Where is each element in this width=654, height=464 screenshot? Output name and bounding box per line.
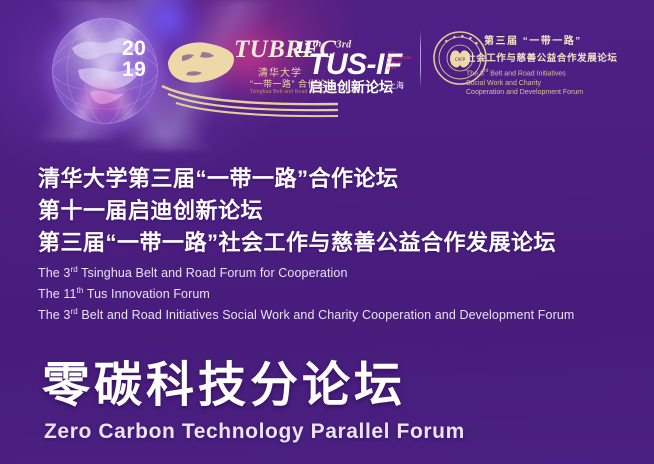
forum-title-chinese: 零碳科技分论坛 — [42, 360, 406, 412]
tusif-side-text: TUS INNOVATION FORUM 2019 — [387, 50, 409, 70]
svg-text:●: ● — [453, 35, 456, 39]
conference-poster-banner: 20 19 TUBRFC3rd 清华大学 “一带一路” 合作论坛 Tsinghu… — [0, 0, 654, 464]
year-label: 20 19 — [122, 38, 146, 80]
svg-text:●: ● — [461, 34, 464, 38]
main-titles-chinese: 清华大学第三届“一带一路”合作论坛 第十一届启迪创新论坛 第三届“一带一路”社会… — [38, 163, 556, 259]
globe-pink-glow-decoration — [71, 76, 137, 124]
seal-text-block: 第三届 “一带一路” 社会工作与慈善公益合作发展论坛 The 3rd Belt … — [466, 32, 646, 98]
seal-en-line2: Social Work and Charity — [466, 79, 646, 89]
logo-tusif: 11th TUS-IF 启迪创新论坛 TUS INNOVATION FORUM … — [295, 28, 410, 108]
main-titles-english: The 3rd Tsinghua Belt and Road Forum for… — [38, 261, 574, 324]
seal-cn-line2: 社会工作与慈善公益合作发展论坛 — [466, 50, 646, 64]
seal-cn-line1: 第三届 “一带一路” — [484, 32, 646, 47]
main-title-cn-2: 第十一届启迪创新论坛 — [38, 195, 556, 227]
forum-title-english: Zero Carbon Technology Parallel Forum — [44, 420, 465, 444]
header-logo-band: 20 19 TUBRFC3rd 清华大学 “一带一路” 合作论坛 Tsinghu… — [0, 0, 654, 140]
year-top: 20 — [122, 38, 146, 59]
main-title-en-2: The 11th Tus Innovation Forum — [38, 282, 574, 303]
seal-emblem-label: CAFP — [455, 57, 466, 62]
logo-divider — [420, 30, 421, 88]
main-title-cn-1: 清华大学第三届“一带一路”合作论坛 — [38, 163, 556, 195]
seal-en-block: The 3rd Belt and Road Initiatives Social… — [466, 67, 646, 98]
year-bottom: 19 — [122, 59, 146, 80]
main-title-en-1: The 3rd Tsinghua Belt and Road Forum for… — [38, 261, 574, 282]
main-title-en-3: The 3rd Belt and Road Initiatives Social… — [38, 303, 574, 324]
main-title-cn-3: 第三届“一带一路”社会工作与慈善公益合作发展论坛 — [38, 227, 556, 259]
tusif-city-label: 上海 — [388, 80, 404, 91]
seal-en-line3: Cooperation and Development Forum — [466, 88, 646, 98]
seal-en-line1: The 3rd Belt and Road Initiatives — [466, 67, 646, 79]
tusif-cn-line: 启迪创新论坛 — [309, 77, 393, 97]
svg-text:●: ● — [445, 39, 448, 43]
